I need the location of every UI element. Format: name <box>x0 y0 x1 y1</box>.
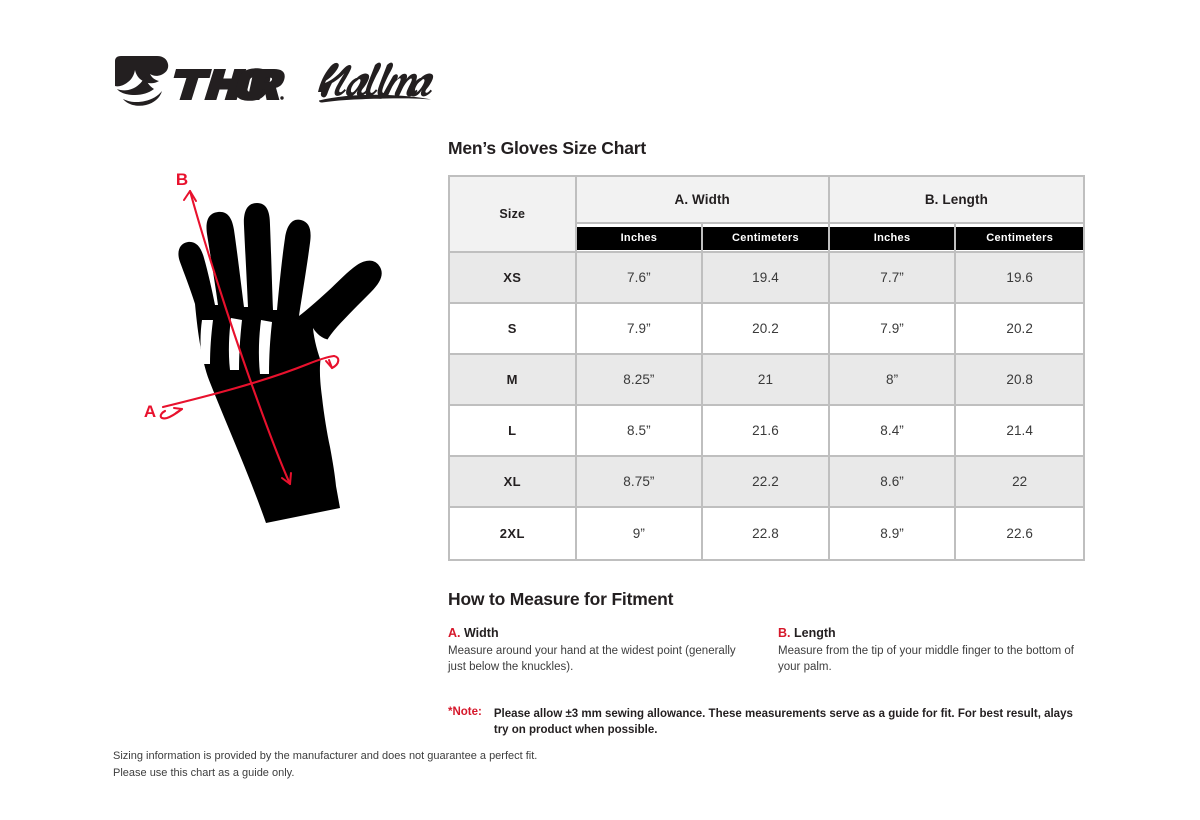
brand-logo-bar <box>113 52 441 110</box>
cell-length-inches: 8.6” <box>830 457 957 508</box>
table-body: XS 7.6” 19.4 7.7” 19.6 S 7.9” 20.2 7.9” … <box>450 253 1083 559</box>
cell-length-inches: 7.9” <box>830 304 957 355</box>
measure-item-width-description: Measure around your hand at the widest p… <box>448 643 748 676</box>
cell-size: M <box>450 355 577 406</box>
footer-line-1: Sizing information is provided by the ma… <box>113 748 537 765</box>
header-group-length: B. Length <box>830 177 1083 224</box>
table-head: Size A. Width B. Length Inches Centimete… <box>450 177 1083 253</box>
how-to-measure-section: How to Measure for Fitment A. Width Meas… <box>448 589 1088 676</box>
note-text: Please allow ±3 mm sewing allowance. The… <box>494 706 1074 739</box>
table-row: XL 8.75” 22.2 8.6” 22 <box>450 457 1083 508</box>
cell-width-centimeters: 22.8 <box>703 508 830 559</box>
measure-item-length-letter: B. <box>778 626 791 640</box>
hand-measurement-diagram: B A <box>118 168 428 543</box>
cell-size: XS <box>450 253 577 304</box>
page-title: Men’s Gloves Size Chart <box>448 138 1088 159</box>
measure-item-width-heading: A. Width <box>448 626 778 640</box>
header-size: Size <box>450 177 577 253</box>
header-group-width: A. Width <box>577 177 830 224</box>
table-row: L 8.5” 21.6 8.4” 21.4 <box>450 406 1083 457</box>
cell-length-centimeters: 20.8 <box>956 355 1083 406</box>
footer-disclaimer: Sizing information is provided by the ma… <box>113 748 537 781</box>
size-chart-content: Men’s Gloves Size Chart Size A. Width B.… <box>448 138 1088 739</box>
note-row: *Note: Please allow ±3 mm sewing allowan… <box>448 706 1088 739</box>
cell-width-centimeters: 20.2 <box>703 304 830 355</box>
cell-width-centimeters: 22.2 <box>703 457 830 508</box>
cell-width-centimeters: 21 <box>703 355 830 406</box>
measure-item-length-description: Measure from the tip of your middle fing… <box>778 643 1078 676</box>
header-length-inches: Inches <box>830 224 957 253</box>
cell-length-centimeters: 19.6 <box>956 253 1083 304</box>
cell-length-inches: 8.4” <box>830 406 957 457</box>
cell-length-centimeters: 20.2 <box>956 304 1083 355</box>
cell-size: XL <box>450 457 577 508</box>
cell-size: L <box>450 406 577 457</box>
diagram-label-a: A <box>144 402 156 421</box>
cell-width-inches: 8.5” <box>577 406 704 457</box>
measure-item-length-heading: B. Length <box>778 626 1078 640</box>
measure-item-length: B. Length Measure from the tip of your m… <box>778 626 1078 676</box>
cell-length-centimeters: 21.4 <box>956 406 1083 457</box>
cell-width-inches: 8.75” <box>577 457 704 508</box>
cell-length-inches: 8” <box>830 355 957 406</box>
table-group-header-row: Size A. Width B. Length <box>450 177 1083 224</box>
cell-width-centimeters: 19.4 <box>703 253 830 304</box>
header-width-centimeters-label: Centimeters <box>703 227 828 250</box>
measure-item-width-name: Width <box>464 626 499 640</box>
cell-length-centimeters: 22 <box>956 457 1083 508</box>
cell-size: 2XL <box>450 508 577 559</box>
measure-item-width: A. Width Measure around your hand at the… <box>448 626 778 676</box>
table-row: 2XL 9” 22.8 8.9” 22.6 <box>450 508 1083 559</box>
table-row: XS 7.6” 19.4 7.7” 19.6 <box>450 253 1083 304</box>
table-row: M 8.25” 21 8” 20.8 <box>450 355 1083 406</box>
header-width-centimeters: Centimeters <box>703 224 830 253</box>
cell-size: S <box>450 304 577 355</box>
header-length-centimeters: Centimeters <box>956 224 1083 253</box>
cell-length-inches: 7.7” <box>830 253 957 304</box>
header-length-inches-label: Inches <box>830 227 955 250</box>
header-width-inches: Inches <box>577 224 704 253</box>
diagram-label-b: B <box>176 170 188 189</box>
how-to-measure-title: How to Measure for Fitment <box>448 589 1088 610</box>
cell-width-inches: 9” <box>577 508 704 559</box>
measure-item-length-name: Length <box>794 626 836 640</box>
size-chart-table: Size A. Width B. Length Inches Centimete… <box>448 175 1085 561</box>
cell-length-inches: 8.9” <box>830 508 957 559</box>
footer-line-2: Please use this chart as a guide only. <box>113 765 537 782</box>
cell-width-inches: 7.9” <box>577 304 704 355</box>
cell-width-inches: 8.25” <box>577 355 704 406</box>
header-length-centimeters-label: Centimeters <box>956 227 1083 250</box>
cell-width-centimeters: 21.6 <box>703 406 830 457</box>
thor-logo <box>113 55 285 107</box>
table-row: S 7.9” 20.2 7.9” 20.2 <box>450 304 1083 355</box>
hallman-logo <box>311 56 441 106</box>
measure-item-width-letter: A. <box>448 626 461 640</box>
cell-width-inches: 7.6” <box>577 253 704 304</box>
note-label: *Note: <box>448 706 482 739</box>
cell-length-centimeters: 22.6 <box>956 508 1083 559</box>
header-width-inches-label: Inches <box>577 227 702 250</box>
